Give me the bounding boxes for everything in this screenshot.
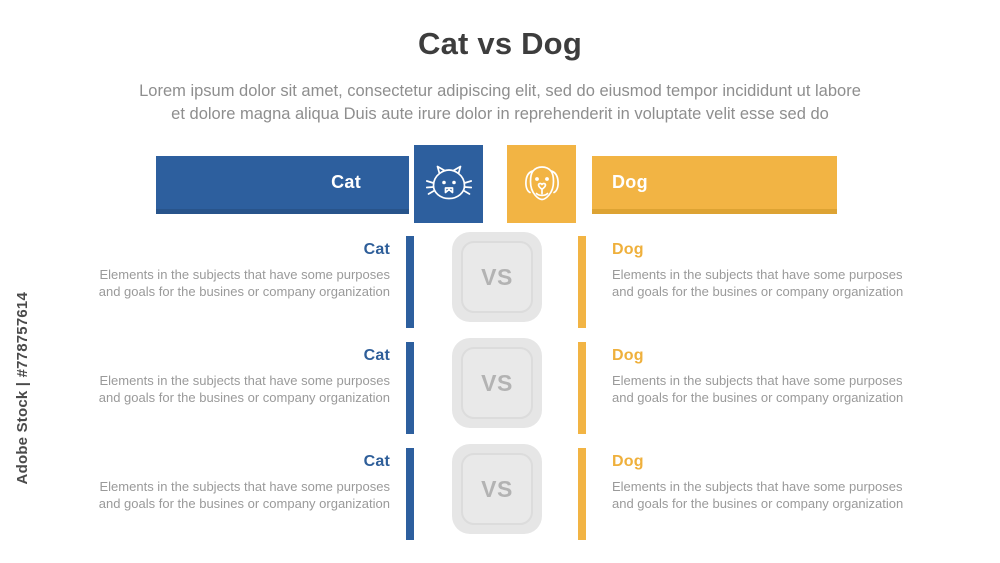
cat-row-content: Cat Elements in the subjects that have s… (60, 241, 390, 300)
cat-icon-box[interactable] (414, 145, 483, 223)
vs-badge: VS (452, 444, 542, 534)
cat-row-description-line-2: and goals for the busines or company org… (60, 283, 390, 300)
dog-row-heading: Dog (612, 347, 942, 365)
cat-row-heading: Cat (60, 347, 390, 365)
cat-row-heading: Cat (60, 453, 390, 471)
dog-accent-bar (578, 448, 586, 540)
cat-banner-bar[interactable]: Cat (156, 156, 409, 214)
banner-row: Cat (0, 145, 1000, 225)
cat-accent-bar (406, 236, 414, 328)
dog-row-description-line-1: Elements in the subjects that have some … (612, 372, 942, 389)
dog-row-description-line-2: and goals for the busines or company org… (612, 389, 942, 406)
dog-row-description: Elements in the subjects that have some … (612, 478, 942, 512)
dog-row-description: Elements in the subjects that have some … (612, 372, 942, 406)
dog-accent-bar (578, 342, 586, 434)
dog-row-heading: Dog (612, 453, 942, 471)
cat-face-icon (426, 163, 472, 205)
cat-row-description: Elements in the subjects that have some … (60, 266, 390, 300)
dog-row-description-line-1: Elements in the subjects that have some … (612, 478, 942, 495)
comparison-row: Cat Elements in the subjects that have s… (0, 336, 1000, 442)
cat-row-description-line-1: Elements in the subjects that have some … (60, 478, 390, 495)
page-title: Cat vs Dog (0, 26, 1000, 62)
dog-row-description-line-2: and goals for the busines or company org… (612, 283, 942, 300)
vs-badge: VS (452, 338, 542, 428)
vs-badge-inner: VS (461, 347, 533, 419)
cat-row-description-line-2: and goals for the busines or company org… (60, 389, 390, 406)
vs-badge: VS (452, 232, 542, 322)
comparison-row: Cat Elements in the subjects that have s… (0, 442, 1000, 548)
dog-row-heading: Dog (612, 241, 942, 259)
cat-row-content: Cat Elements in the subjects that have s… (60, 453, 390, 512)
cat-accent-bar (406, 342, 414, 434)
page-subtitle: Lorem ipsum dolor sit amet, consectetur … (50, 80, 950, 126)
page-subtitle-line-1: Lorem ipsum dolor sit amet, consectetur … (50, 80, 950, 103)
dog-banner-bar[interactable]: Dog (592, 156, 837, 214)
cat-row-description-line-2: and goals for the busines or company org… (60, 495, 390, 512)
cat-row-content: Cat Elements in the subjects that have s… (60, 347, 390, 406)
cat-row-description: Elements in the subjects that have some … (60, 478, 390, 512)
vs-badge-label: VS (481, 476, 513, 503)
cat-accent-bar (406, 448, 414, 540)
dog-banner-label: Dog (612, 172, 648, 193)
cat-row-description: Elements in the subjects that have some … (60, 372, 390, 406)
dog-row-content: Dog Elements in the subjects that have s… (612, 347, 942, 406)
dog-icon-box[interactable] (507, 145, 576, 223)
vs-badge-label: VS (481, 370, 513, 397)
comparison-rows: Cat Elements in the subjects that have s… (0, 230, 1000, 548)
dog-row-description: Elements in the subjects that have some … (612, 266, 942, 300)
dog-row-description-line-2: and goals for the busines or company org… (612, 495, 942, 512)
dog-accent-bar (578, 236, 586, 328)
page-subtitle-line-2: et dolore magna aliqua Duis aute irure d… (50, 103, 950, 126)
vs-badge-inner: VS (461, 241, 533, 313)
vs-badge-inner: VS (461, 453, 533, 525)
cat-banner-label: Cat (331, 172, 361, 193)
cat-row-description-line-1: Elements in the subjects that have some … (60, 372, 390, 389)
dog-row-content: Dog Elements in the subjects that have s… (612, 453, 942, 512)
dog-row-description-line-1: Elements in the subjects that have some … (612, 266, 942, 283)
comparison-row: Cat Elements in the subjects that have s… (0, 230, 1000, 336)
vs-badge-label: VS (481, 264, 513, 291)
cat-row-description-line-1: Elements in the subjects that have some … (60, 266, 390, 283)
dog-face-icon (519, 162, 565, 206)
cat-row-heading: Cat (60, 241, 390, 259)
dog-row-content: Dog Elements in the subjects that have s… (612, 241, 942, 300)
